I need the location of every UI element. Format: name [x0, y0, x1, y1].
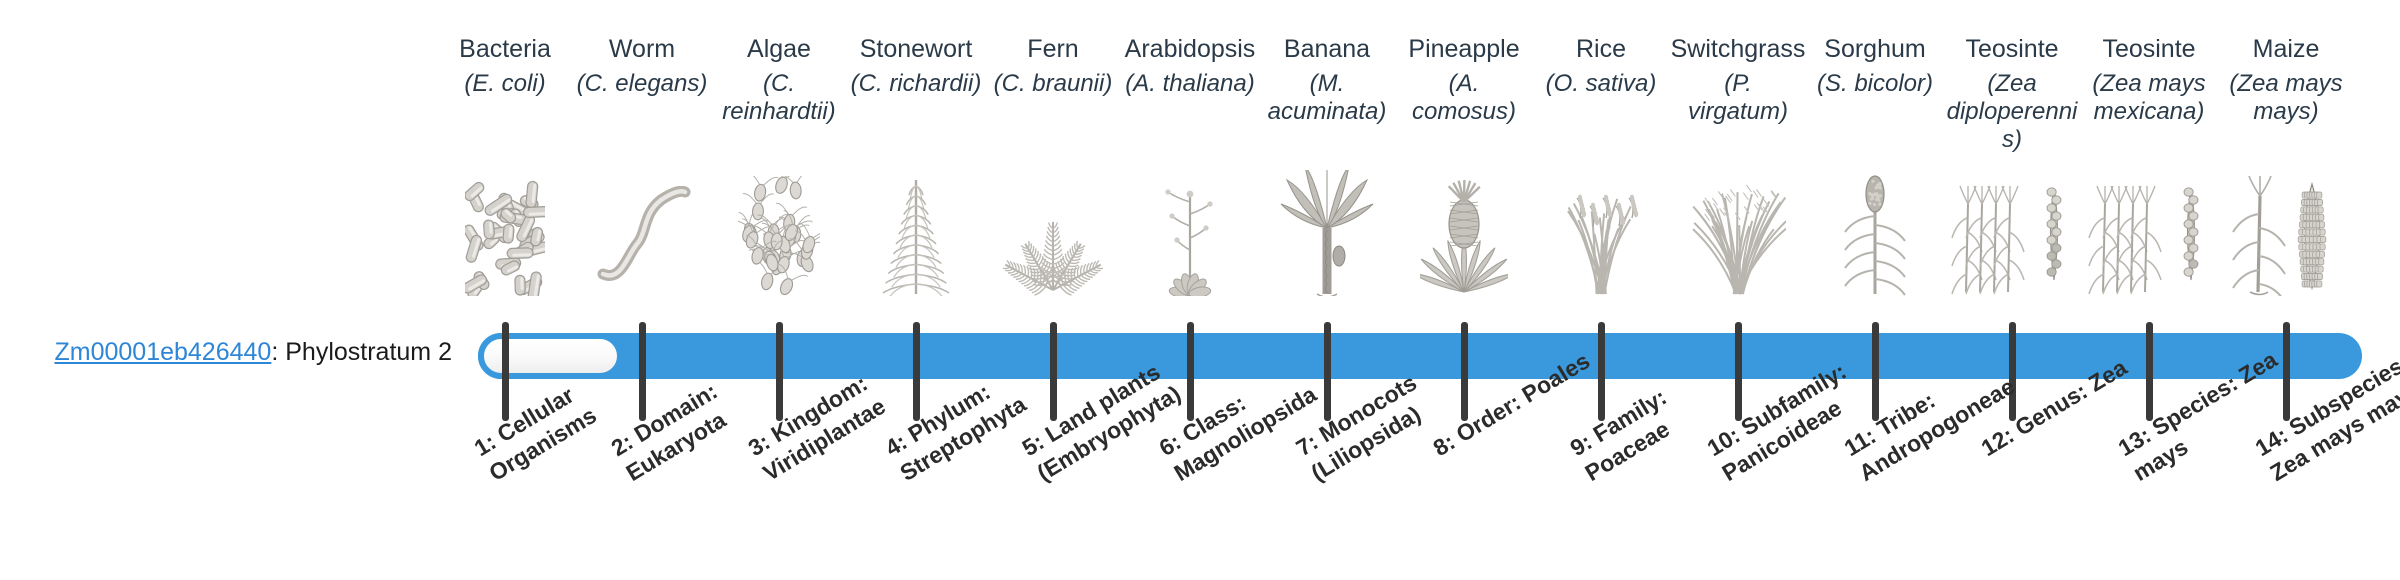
species-common-name: Banana	[1259, 34, 1396, 64]
species-common-name: Worm	[574, 34, 711, 64]
species-column: Teosinte(Zea diploperennis)	[1944, 34, 2081, 154]
maize-icon	[2218, 168, 2355, 296]
phylostratum-timeline: Zm00001eb426440: Phylostratum 2 Bacteria…	[0, 0, 2400, 580]
species-column: Fern(C. braunii)	[985, 34, 1122, 98]
rank-number: 8:	[1429, 428, 1460, 461]
worm-icon	[574, 168, 711, 296]
species-common-name: Teosinte	[1944, 34, 2081, 64]
species-column: Stonewort(C. richardii)	[848, 34, 985, 98]
species-column: Maize(Zea mays mays)	[2218, 34, 2355, 126]
species-column: Rice(O. sativa)	[1533, 34, 1670, 98]
species-common-name: Stonewort	[848, 34, 985, 64]
species-column: Pineapple(A. comosus)	[1396, 34, 1533, 126]
species-column: Algae(C. reinhardtii)	[711, 34, 848, 126]
species-common-name: Rice	[1533, 34, 1670, 64]
banana-icon	[1259, 168, 1396, 296]
species-scientific-name: (E. coli)	[437, 70, 574, 98]
species-scientific-name: (M. acuminata)	[1259, 70, 1396, 126]
species-scientific-name: (O. sativa)	[1533, 70, 1670, 98]
species-column: Worm(C. elegans)	[574, 34, 711, 98]
teosinte-diploperennis-icon	[1944, 168, 2081, 296]
bacteria-icon	[437, 168, 574, 296]
arabidopsis-icon	[1122, 168, 1259, 296]
species-column: Bacteria(E. coli)	[437, 34, 574, 98]
species-column: Teosinte(Zea mays mexicana)	[2081, 34, 2218, 126]
species-column: Switchgrass(P. virgatum)	[1670, 34, 1807, 126]
species-column: Banana(M. acuminata)	[1259, 34, 1396, 126]
gene-id-link[interactable]: Zm00001eb426440	[54, 338, 271, 366]
species-scientific-name: (S. bicolor)	[1807, 70, 1944, 98]
species-scientific-name: (C. richardii)	[848, 70, 985, 98]
phylostratum-tick	[502, 322, 509, 421]
species-common-name: Pineapple	[1396, 34, 1533, 64]
algae-icon	[711, 168, 848, 296]
species-scientific-name: (C. reinhardtii)	[711, 70, 848, 126]
species-scientific-name: (Zea mays mays)	[2218, 70, 2355, 126]
species-common-name: Fern	[985, 34, 1122, 64]
teosinte-mexicana-icon	[2081, 168, 2218, 296]
species-common-name: Maize	[2218, 34, 2355, 64]
species-column: Sorghum(S. bicolor)	[1807, 34, 1944, 98]
species-scientific-name: (C. braunii)	[985, 70, 1122, 98]
pineapple-icon	[1396, 168, 1533, 296]
species-common-name: Algae	[711, 34, 848, 64]
species-scientific-name: (Zea mays mexicana)	[2081, 70, 2218, 126]
species-scientific-name: (A. thaliana)	[1122, 70, 1259, 98]
fern-icon	[985, 168, 1122, 296]
species-scientific-name: (Zea diploperennis)	[1944, 70, 2081, 154]
species-common-name: Teosinte	[2081, 34, 2218, 64]
species-scientific-name: (P. virgatum)	[1670, 70, 1807, 126]
species-scientific-name: (A. comosus)	[1396, 70, 1533, 126]
species-column: Arabidopsis(A. thaliana)	[1122, 34, 1259, 98]
phylostratum-value-text: Phylostratum 2	[285, 338, 452, 366]
sorghum-icon	[1807, 168, 1944, 296]
species-common-name: Sorghum	[1807, 34, 1944, 64]
species-common-name: Bacteria	[437, 34, 574, 64]
rice-icon	[1533, 168, 1670, 296]
switchgrass-icon	[1670, 168, 1807, 296]
gene-phylostratum-label: Zm00001eb426440: Phylostratum 2	[0, 338, 452, 367]
gene-label-separator: :	[271, 338, 285, 366]
species-scientific-name: (C. elegans)	[574, 70, 711, 98]
rank-text: Family: Poaceae	[1580, 384, 1673, 486]
stonewort-icon	[848, 168, 985, 296]
species-common-name: Switchgrass	[1670, 34, 1807, 64]
species-common-name: Arabidopsis	[1122, 34, 1259, 64]
rank-number: 12:	[1977, 422, 2019, 461]
